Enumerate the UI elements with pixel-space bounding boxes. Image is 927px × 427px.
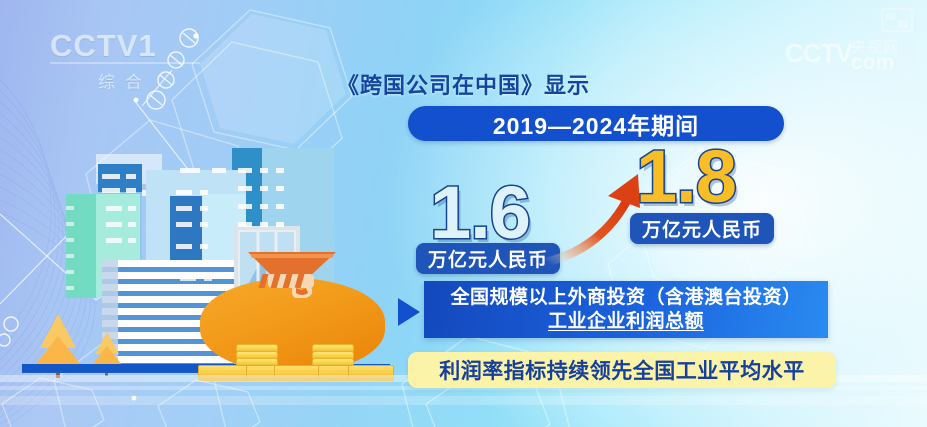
figure-start-unit-pill: 万亿元人民币: [416, 243, 560, 274]
money-bag-tie: [244, 248, 340, 298]
metric-description-box: 全国规模以上外商投资（含港澳台投资） 工业企业利润总额: [424, 281, 828, 338]
tree-small: [95, 332, 123, 366]
picture-in-picture-icon: [881, 8, 913, 32]
figure-start-unit: 万亿元人民币: [428, 245, 548, 272]
metric-description-line1: 全国规模以上外商投资（含港澳台投资）: [450, 286, 801, 309]
infographic-canvas: CCTV1 综合 CCTV 央视网 com 《跨国公司在中国》显示 2019—2…: [0, 0, 927, 427]
tree-large: [40, 314, 82, 366]
metric-description-line2: 工业企业利润总额: [548, 310, 704, 333]
watermark-brand: CCTV: [785, 40, 852, 66]
page-title: 《跨国公司在中国》显示: [0, 68, 927, 100]
right-triangle-marker-icon: [398, 298, 420, 326]
figure-start-value: 1.6: [430, 176, 530, 250]
highlight-banner: 利润率指标持续领先全国工业平均水平: [408, 352, 836, 388]
channel-logo-text: CCTV1: [50, 30, 200, 61]
figure-end-unit: 万亿元人民币: [642, 215, 762, 242]
upward-trend-arrow-icon: [540, 168, 660, 268]
highlight-banner-label: 利润率指标持续领先全国工业平均水平: [439, 355, 805, 385]
channel-number: 1: [138, 30, 156, 61]
